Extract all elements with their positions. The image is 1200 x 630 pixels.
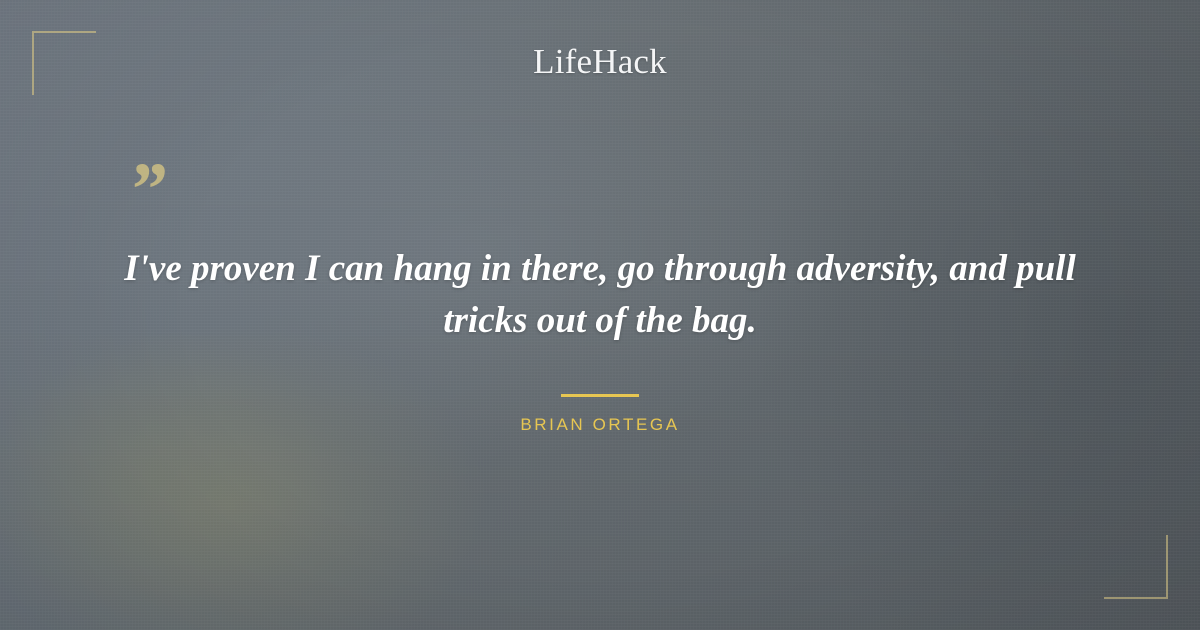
corner-bracket-bottom-right-icon [1104, 535, 1168, 599]
quote-text: I've proven I can hang in there, go thro… [100, 243, 1100, 347]
quotation-mark-icon: ” [128, 152, 166, 228]
quote-author: BRIAN ORTEGA [0, 415, 1200, 435]
quote-card: LifeHack ” I've proven I can hang in the… [0, 0, 1200, 630]
divider-wrapper [0, 384, 1200, 402]
accent-divider [561, 394, 639, 397]
brand-logo[interactable]: LifeHack [0, 42, 1200, 82]
